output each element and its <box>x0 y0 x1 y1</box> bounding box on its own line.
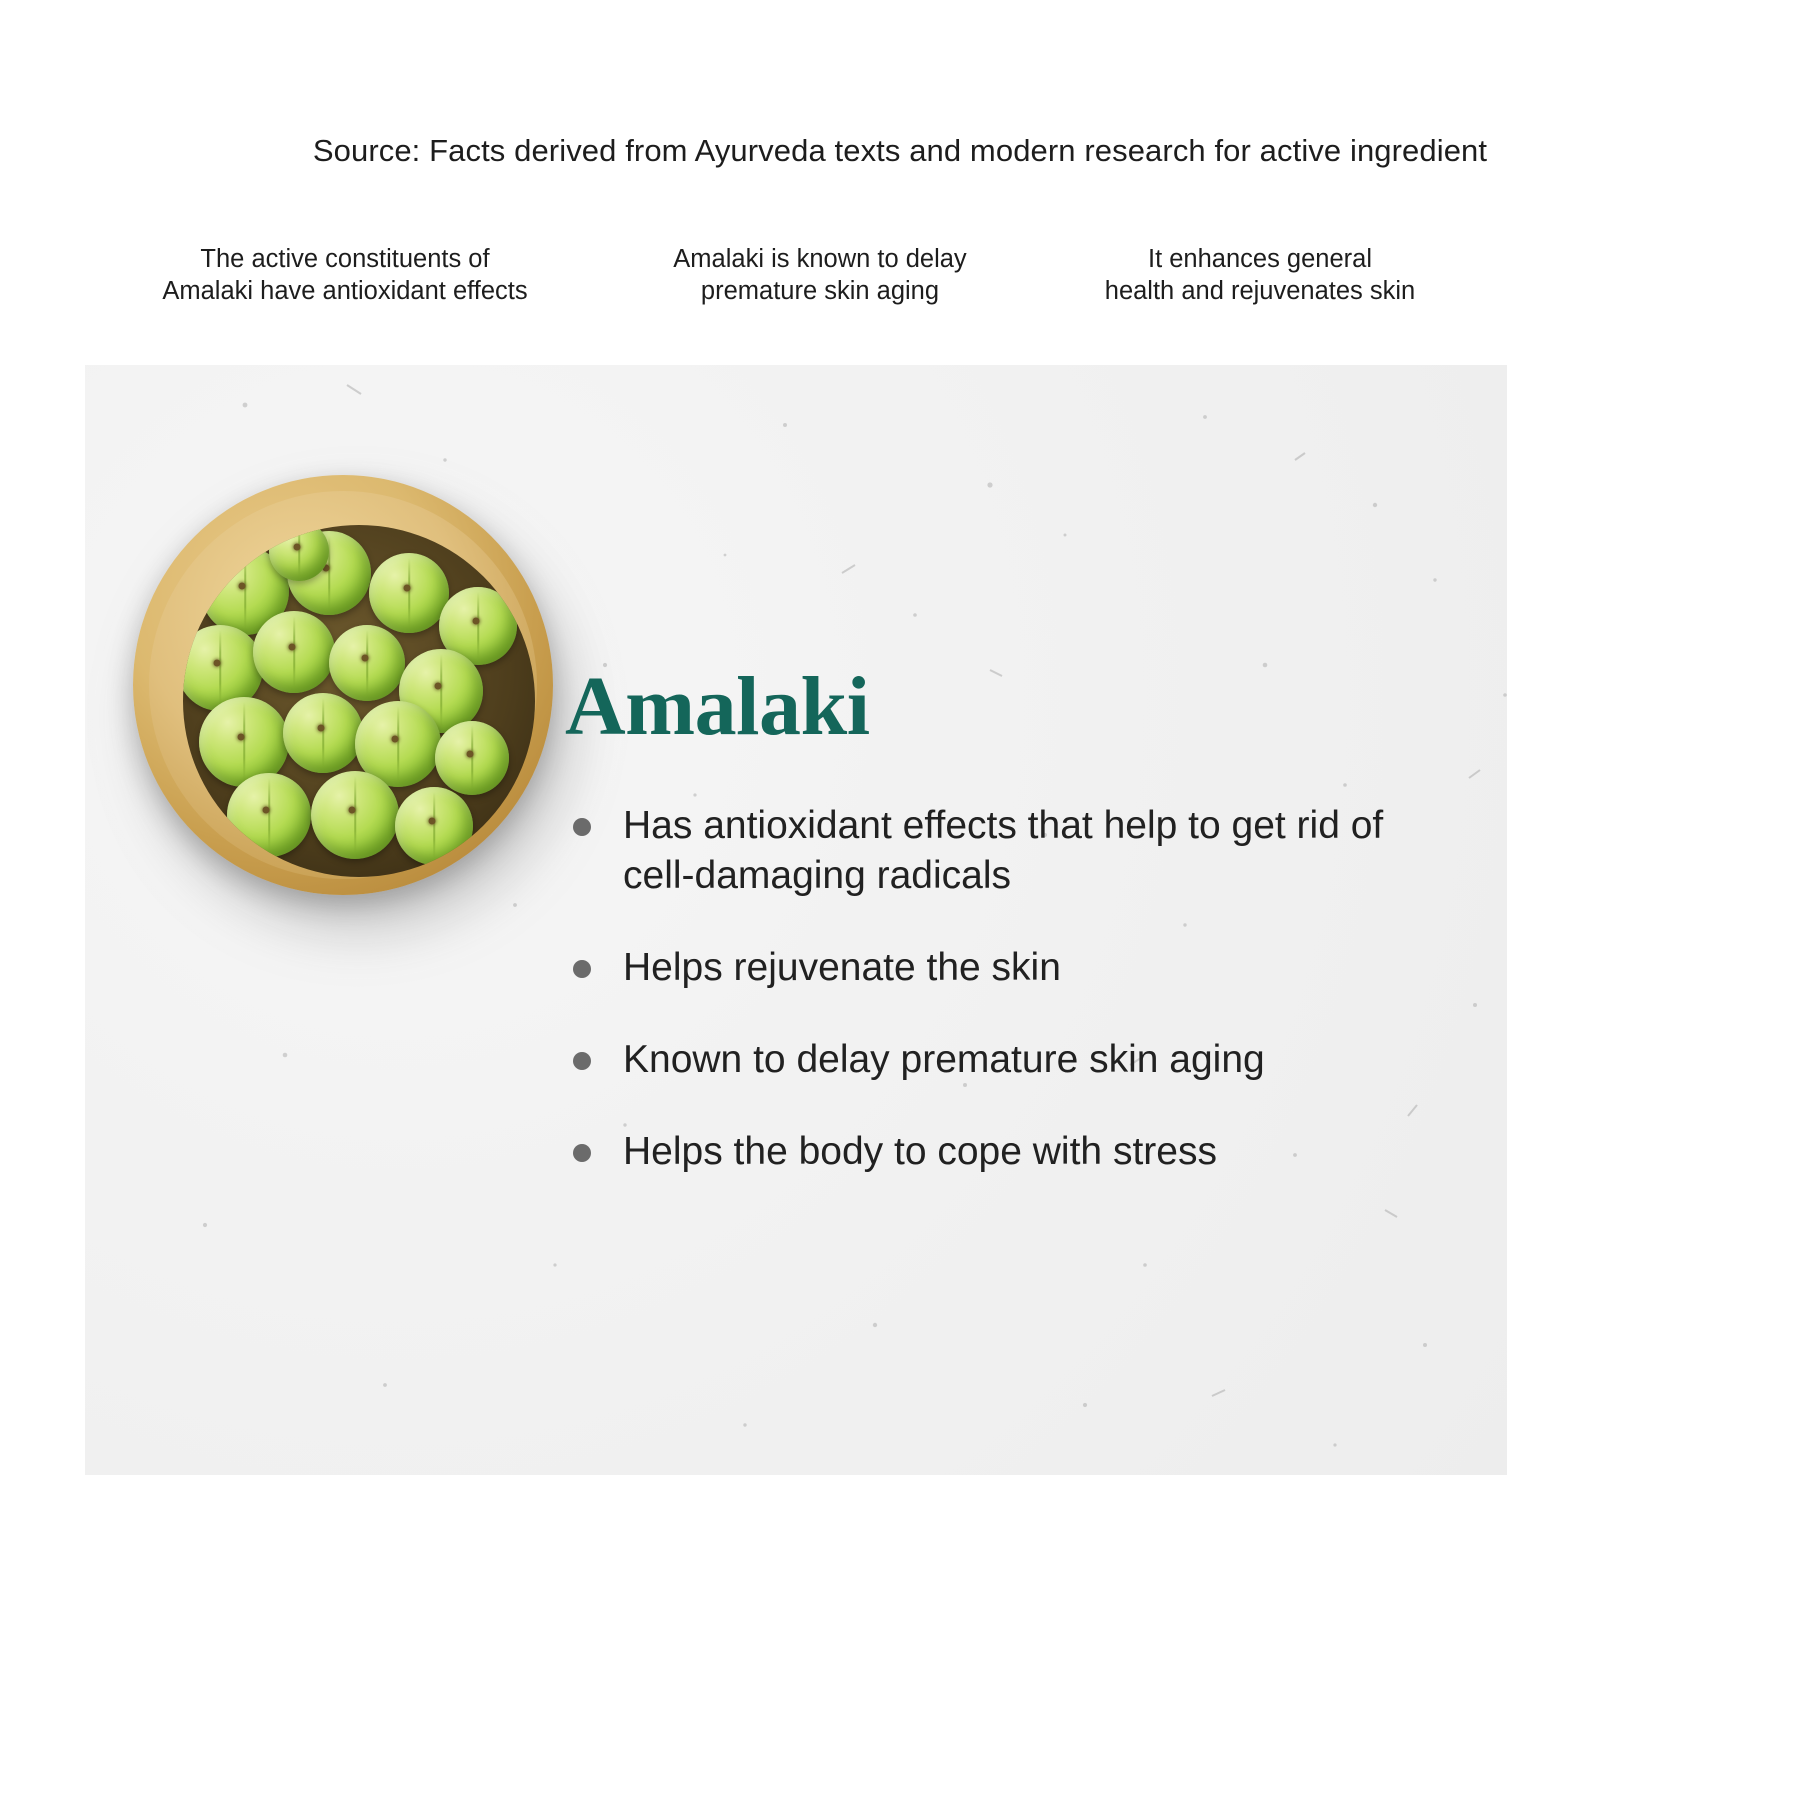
bowl-of-amalaki-image <box>133 475 583 925</box>
fact-item-3-line1: It enhances general <box>1035 244 1485 276</box>
benefit-text: Has antioxidant effects that help to get… <box>623 804 1383 897</box>
source-note: Source: Facts derived from Ayurveda text… <box>0 133 1800 169</box>
fact-item-3: It enhances general health and rejuvenat… <box>1035 244 1485 308</box>
page-title: Amalaki <box>565 665 1445 749</box>
fact-item-1: The active constituents of Amalaki have … <box>85 244 605 308</box>
bullet-dot-icon <box>573 960 591 978</box>
benefit-text: Helps rejuvenate the skin <box>623 946 1061 989</box>
fact-item-1-line2: Amalaki have antioxidant effects <box>85 276 605 308</box>
list-item: Helps the body to cope with stress <box>565 1127 1445 1177</box>
fact-item-1-line1: The active constituents of <box>85 244 605 276</box>
ingredient-photo-panel: Amalaki Has antioxidant effects that hel… <box>85 365 1507 1475</box>
list-item: Has antioxidant effects that help to get… <box>565 801 1445 901</box>
bullet-dot-icon <box>573 818 591 836</box>
bowl-interior <box>183 525 535 877</box>
benefits-list: Has antioxidant effects that help to get… <box>565 801 1445 1177</box>
infographic-page: Source: Facts derived from Ayurveda text… <box>0 0 1800 1800</box>
benefit-text: Helps the body to cope with stress <box>623 1130 1217 1173</box>
bullet-dot-icon <box>573 1144 591 1162</box>
fact-item-2: Amalaki is known to delay premature skin… <box>610 244 1030 308</box>
benefit-text: Known to delay premature skin aging <box>623 1038 1265 1081</box>
bullet-dot-icon <box>573 1052 591 1070</box>
ingredient-content: Amalaki Has antioxidant effects that hel… <box>565 665 1445 1177</box>
fact-header-row: The active constituents of Amalaki have … <box>85 244 1485 308</box>
fact-item-3-line2: health and rejuvenates skin <box>1035 276 1485 308</box>
bowl-rim <box>149 491 537 879</box>
fact-item-2-line1: Amalaki is known to delay <box>610 244 1030 276</box>
fact-item-2-line2: premature skin aging <box>610 276 1030 308</box>
list-item: Helps rejuvenate the skin <box>565 943 1445 993</box>
list-item: Known to delay premature skin aging <box>565 1035 1445 1085</box>
bowl-outer-wall <box>133 475 553 895</box>
